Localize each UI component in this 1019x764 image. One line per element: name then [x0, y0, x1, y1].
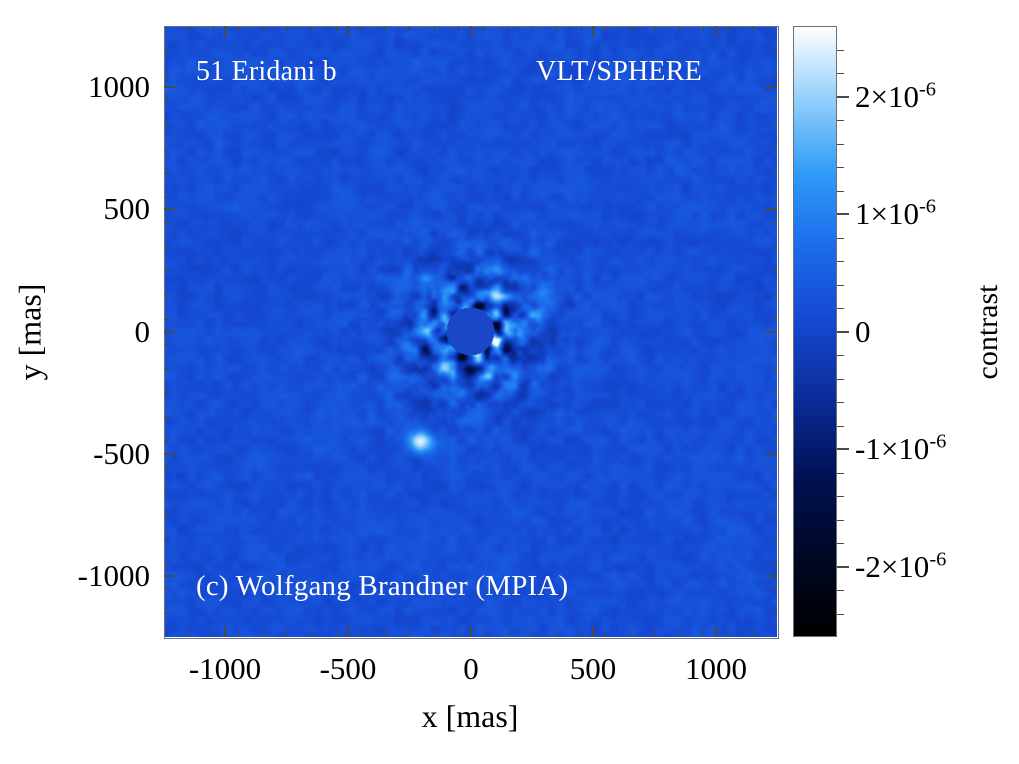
- x-minor-tick-bottom: [728, 631, 729, 637]
- y-minor-tick-right: [771, 295, 777, 296]
- x-minor-tick-top: [311, 26, 312, 32]
- y-minor-tick-right: [771, 515, 777, 516]
- y-minor-tick-right: [771, 99, 777, 100]
- y-major-tick-left: [164, 86, 175, 88]
- colorbar: [793, 26, 837, 637]
- y-minor-tick-left: [164, 124, 170, 125]
- y-minor-tick-left: [164, 393, 170, 394]
- x-minor-tick-top: [630, 26, 631, 32]
- x-minor-tick-bottom: [213, 631, 214, 637]
- y-minor-tick-right: [771, 466, 777, 467]
- colorbar-tick-label: 1×10-6: [855, 196, 936, 232]
- y-minor-tick-left: [164, 222, 170, 223]
- x-minor-tick-top: [605, 26, 606, 32]
- y-tick-label: 1000: [10, 69, 150, 105]
- x-minor-tick-bottom: [458, 631, 459, 637]
- y-minor-tick-left: [164, 613, 170, 614]
- y-minor-tick-right: [771, 148, 777, 149]
- colorbar-minor-tick: [837, 120, 844, 121]
- colorbar-minor-tick: [837, 355, 844, 356]
- x-major-tick-top: [592, 26, 594, 37]
- x-minor-tick-top: [189, 26, 190, 32]
- instrument-name-label: VLT/SPHERE: [536, 56, 702, 88]
- y-minor-tick-right: [771, 441, 777, 442]
- x-minor-tick-bottom: [630, 631, 631, 637]
- x-minor-tick-bottom: [507, 631, 508, 637]
- y-major-tick-right: [766, 453, 777, 455]
- y-minor-tick-right: [771, 75, 777, 76]
- colorbar-minor-tick: [837, 238, 844, 239]
- x-minor-tick-top: [360, 26, 361, 32]
- x-minor-tick-top: [213, 26, 214, 32]
- x-tick-label: 0: [463, 651, 479, 687]
- y-major-tick-left: [164, 331, 175, 333]
- y-minor-tick-right: [771, 368, 777, 369]
- x-major-tick-bottom: [715, 626, 717, 637]
- colorbar-minor-tick: [837, 543, 844, 544]
- colorbar-major-tick: [837, 213, 849, 215]
- y-minor-tick-right: [771, 564, 777, 565]
- y-minor-tick-right: [771, 124, 777, 125]
- x-minor-tick-bottom: [409, 631, 410, 637]
- y-minor-tick-right: [771, 417, 777, 418]
- colorbar-major-tick: [837, 566, 849, 568]
- x-minor-tick-bottom: [189, 631, 190, 637]
- credit-label: (c) Wolfgang Brandner (MPIA): [196, 570, 568, 603]
- x-minor-tick-top: [409, 26, 410, 32]
- coronagraph-image-panel: [164, 26, 777, 637]
- y-major-tick-right: [766, 208, 777, 210]
- colorbar-minor-tick: [837, 520, 844, 521]
- colorbar-minor-tick: [837, 426, 844, 427]
- x-tick-label: 500: [570, 651, 617, 687]
- y-minor-tick-left: [164, 441, 170, 442]
- y-minor-tick-right: [771, 393, 777, 394]
- y-minor-tick-left: [164, 99, 170, 100]
- x-tick-label: 1000: [685, 651, 747, 687]
- y-minor-tick-left: [164, 515, 170, 516]
- x-minor-tick-bottom: [287, 631, 288, 637]
- x-minor-tick-top: [679, 26, 680, 32]
- colorbar-minor-tick: [837, 261, 844, 262]
- colorbar-gradient: [794, 27, 836, 636]
- x-major-tick-bottom: [592, 626, 594, 637]
- x-minor-tick-top: [336, 26, 337, 32]
- colorbar-tick-label: -1×10-6: [855, 431, 946, 467]
- x-minor-tick-bottom: [311, 631, 312, 637]
- x-minor-tick-bottom: [385, 631, 386, 637]
- colorbar-tick-label: 2×10-6: [855, 79, 936, 115]
- y-minor-tick-left: [164, 417, 170, 418]
- x-tick-label: -500: [320, 651, 377, 687]
- x-minor-tick-top: [581, 26, 582, 32]
- y-major-tick-right: [766, 575, 777, 577]
- colorbar-major-tick: [837, 448, 849, 450]
- y-minor-tick-right: [771, 588, 777, 589]
- y-minor-tick-right: [771, 50, 777, 51]
- x-major-tick-top: [715, 26, 717, 37]
- y-minor-tick-left: [164, 588, 170, 589]
- colorbar-major-tick: [837, 96, 849, 98]
- x-minor-tick-bottom: [336, 631, 337, 637]
- x-minor-tick-top: [507, 26, 508, 32]
- y-minor-tick-right: [771, 319, 777, 320]
- colorbar-minor-tick: [837, 496, 844, 497]
- x-minor-tick-bottom: [581, 631, 582, 637]
- target-name-label: 51 Eridani b: [196, 56, 337, 88]
- y-tick-label: -500: [10, 436, 150, 472]
- colorbar-minor-tick: [837, 590, 844, 591]
- colorbar-minor-tick: [837, 50, 844, 51]
- x-minor-tick-bottom: [605, 631, 606, 637]
- y-minor-tick-left: [164, 344, 170, 345]
- x-minor-tick-bottom: [679, 631, 680, 637]
- y-minor-tick-left: [164, 270, 170, 271]
- y-minor-tick-left: [164, 466, 170, 467]
- y-minor-tick-left: [164, 75, 170, 76]
- x-minor-tick-top: [483, 26, 484, 32]
- x-minor-tick-top: [262, 26, 263, 32]
- x-minor-tick-bottom: [262, 631, 263, 637]
- y-major-tick-right: [766, 86, 777, 88]
- x-minor-tick-top: [458, 26, 459, 32]
- colorbar-minor-tick: [837, 402, 844, 403]
- colorbar-tick-label: -2×10-6: [855, 549, 946, 585]
- colorbar-minor-tick: [837, 308, 844, 309]
- x-minor-tick-top: [752, 26, 753, 32]
- x-minor-tick-top: [654, 26, 655, 32]
- colorbar-minor-tick: [837, 73, 844, 74]
- colorbar-major-tick: [837, 331, 849, 333]
- y-tick-label: -1000: [10, 558, 150, 594]
- x-minor-tick-top: [287, 26, 288, 32]
- x-minor-tick-bottom: [434, 631, 435, 637]
- y-minor-tick-right: [771, 246, 777, 247]
- x-minor-tick-top: [385, 26, 386, 32]
- x-axis-title: x [mas]: [422, 698, 519, 735]
- x-major-tick-top: [470, 26, 472, 37]
- y-major-tick-right: [766, 331, 777, 333]
- y-minor-tick-left: [164, 197, 170, 198]
- x-minor-tick-bottom: [360, 631, 361, 637]
- y-minor-tick-right: [771, 222, 777, 223]
- x-major-tick-top: [347, 26, 349, 37]
- colorbar-minor-tick: [837, 473, 844, 474]
- y-minor-tick-right: [771, 539, 777, 540]
- x-minor-tick-top: [532, 26, 533, 32]
- x-minor-tick-top: [728, 26, 729, 32]
- y-major-tick-left: [164, 575, 175, 577]
- speckle-heatmap-canvas: [164, 26, 777, 637]
- x-minor-tick-bottom: [703, 631, 704, 637]
- x-minor-tick-bottom: [483, 631, 484, 637]
- y-minor-tick-left: [164, 490, 170, 491]
- x-minor-tick-top: [556, 26, 557, 32]
- y-minor-tick-left: [164, 368, 170, 369]
- x-minor-tick-bottom: [654, 631, 655, 637]
- y-tick-label: 0: [10, 314, 150, 350]
- y-minor-tick-right: [771, 490, 777, 491]
- x-minor-tick-top: [238, 26, 239, 32]
- y-minor-tick-left: [164, 246, 170, 247]
- y-minor-tick-right: [771, 173, 777, 174]
- colorbar-minor-tick: [837, 191, 844, 192]
- x-minor-tick-bottom: [556, 631, 557, 637]
- x-minor-tick-bottom: [752, 631, 753, 637]
- x-tick-label: -1000: [189, 651, 261, 687]
- colorbar-tick-label: 0: [855, 314, 871, 350]
- x-minor-tick-top: [434, 26, 435, 32]
- y-minor-tick-right: [771, 344, 777, 345]
- x-minor-tick-bottom: [532, 631, 533, 637]
- y-minor-tick-left: [164, 295, 170, 296]
- colorbar-minor-tick: [837, 167, 844, 168]
- colorbar-title: contrast: [971, 285, 1005, 380]
- x-major-tick-bottom: [224, 626, 226, 637]
- y-minor-tick-left: [164, 50, 170, 51]
- y-minor-tick-left: [164, 319, 170, 320]
- y-major-tick-left: [164, 208, 175, 210]
- y-tick-label: 500: [10, 191, 150, 227]
- figure-root: 51 Eridani b VLT/SPHERE (c) Wolfgang Bra…: [0, 0, 1019, 764]
- x-minor-tick-bottom: [238, 631, 239, 637]
- y-minor-tick-left: [164, 539, 170, 540]
- colorbar-minor-tick: [837, 614, 844, 615]
- y-minor-tick-left: [164, 173, 170, 174]
- x-minor-tick-top: [703, 26, 704, 32]
- y-minor-tick-right: [771, 197, 777, 198]
- colorbar-minor-tick: [837, 144, 844, 145]
- x-major-tick-top: [224, 26, 226, 37]
- x-major-tick-bottom: [470, 626, 472, 637]
- y-minor-tick-left: [164, 148, 170, 149]
- y-major-tick-left: [164, 453, 175, 455]
- y-minor-tick-left: [164, 564, 170, 565]
- y-minor-tick-right: [771, 270, 777, 271]
- colorbar-minor-tick: [837, 379, 844, 380]
- y-minor-tick-right: [771, 613, 777, 614]
- colorbar-minor-tick: [837, 285, 844, 286]
- x-major-tick-bottom: [347, 626, 349, 637]
